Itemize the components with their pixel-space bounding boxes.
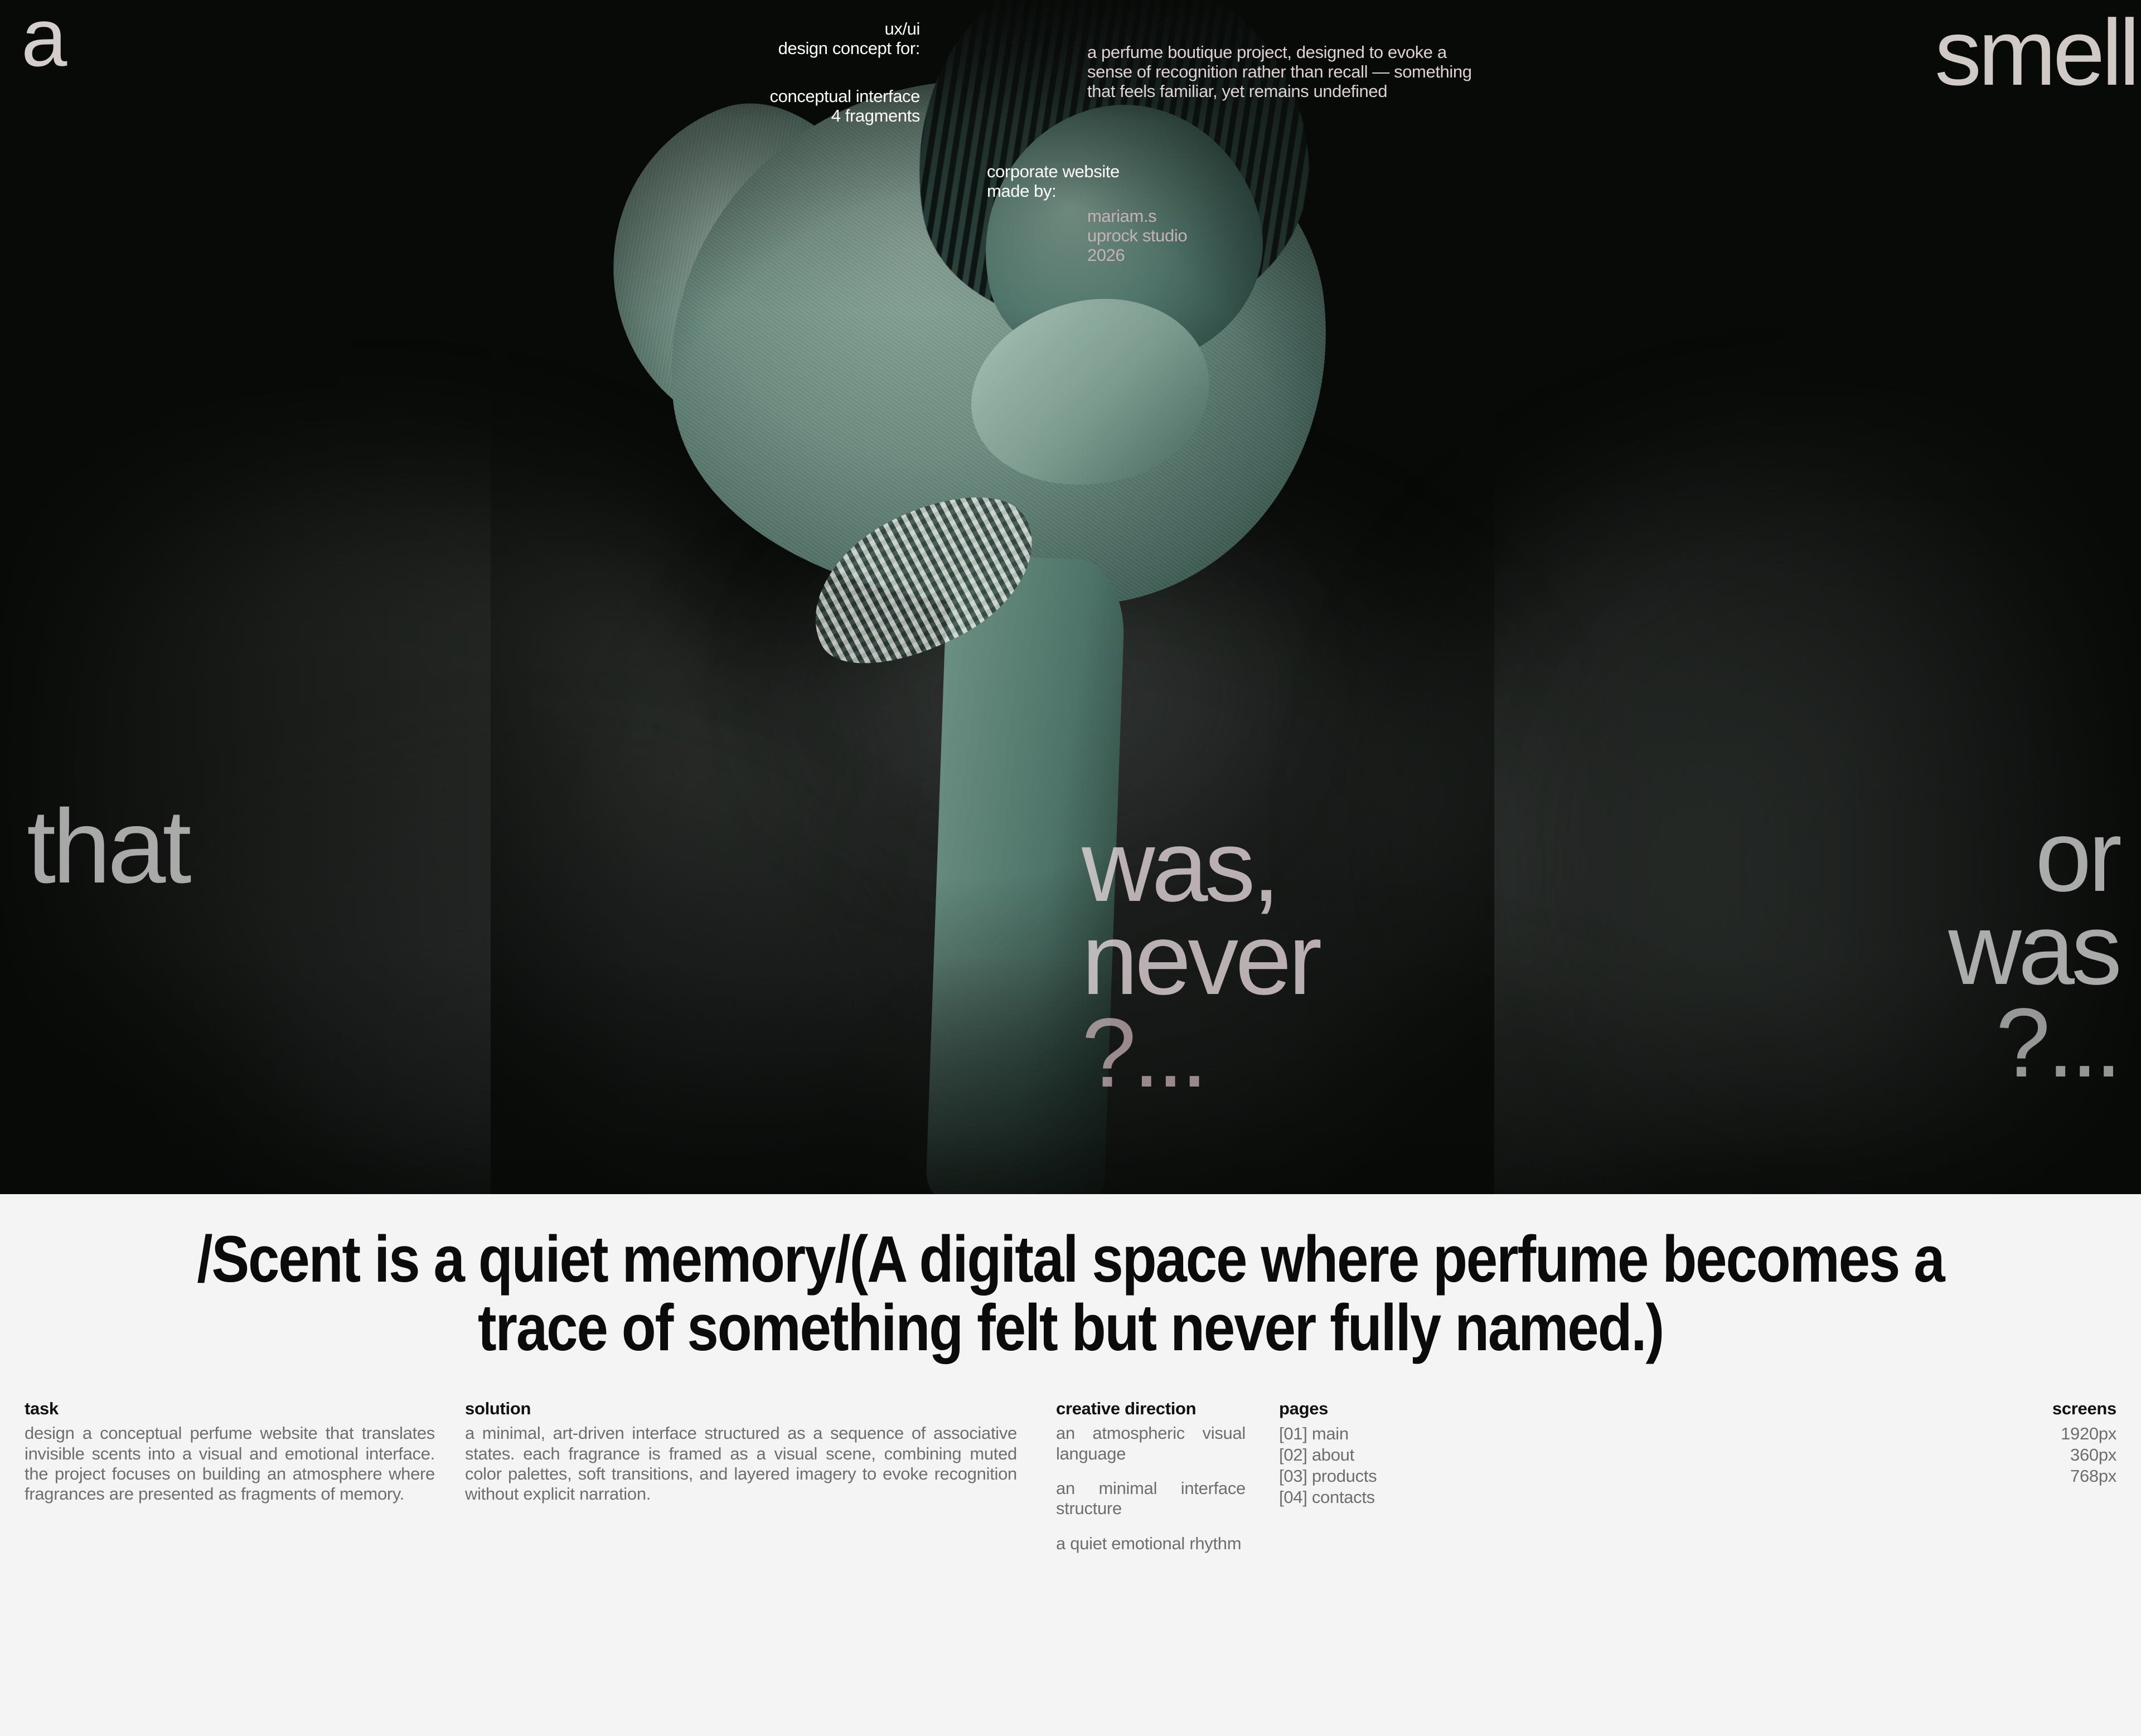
info-band: /Scent is a quiet memory/(A digital spac… — [0, 1194, 2141, 1736]
column-solution-title: solution — [465, 1399, 1017, 1419]
meta-corporate-website: corporate website — [987, 162, 1188, 181]
screens-list-item: 768px — [1782, 1466, 2116, 1487]
column-screens: screens 1920px 360px 768px — [1782, 1399, 2116, 1486]
overlay-word-never: never — [1082, 913, 1319, 1006]
meta-credit-block: mariam.s uprock studio 2026 — [1087, 206, 1344, 265]
column-creative-direction-title: creative direction — [1056, 1399, 1246, 1419]
meta-year: 2026 — [1087, 245, 1344, 265]
creative-direction-item: a quiet emotional rhythm — [1056, 1534, 1246, 1554]
overlay-word-was-right: was — [1948, 903, 2119, 996]
column-task-body: design a conceptual perfume website that… — [25, 1423, 435, 1504]
brand-mark-smell: smell — [1935, 6, 2137, 99]
column-solution-body: a minimal, art-driven interface structur… — [465, 1423, 1017, 1504]
meta-discipline-block: ux/ui design concept for: — [714, 19, 920, 58]
meta-concept-label: design concept for: — [714, 38, 920, 58]
meta-concept-description: a perfume boutique project, designed to … — [1087, 42, 1489, 101]
meta-interface-type: conceptual interface — [714, 86, 920, 106]
screens-list-item: 360px — [1782, 1444, 2116, 1466]
hero-section: a smell ux/ui design concept for: concep… — [0, 0, 2141, 1194]
overlay-phrase-or-was: or was ?... — [1948, 809, 2119, 1090]
meta-made-by-block: corporate website made by: — [987, 162, 1188, 201]
info-columns: task design a conceptual perfume website… — [25, 1399, 2116, 1553]
column-task-title: task — [25, 1399, 435, 1419]
meta-made-by: made by: — [987, 181, 1188, 201]
column-solution: solution a minimal, art-driven interface… — [465, 1399, 1056, 1504]
meta-studio: uprock studio — [1087, 226, 1344, 245]
column-pages-title: pages — [1279, 1399, 1725, 1419]
headline: /Scent is a quiet memory/(A digital spac… — [171, 1194, 1970, 1362]
meta-fragments: 4 fragments — [714, 106, 920, 125]
overlay-question-mark-center: ?... — [1082, 1006, 1319, 1100]
overlay-question-mark-right: ?... — [1948, 996, 2119, 1090]
overlay-word-was: was, — [1082, 819, 1319, 913]
pages-list-item[interactable]: [03] products — [1279, 1466, 1725, 1487]
brand-mark-a: a — [21, 0, 65, 79]
column-screens-title: screens — [1782, 1399, 2116, 1419]
column-pages: pages [01] main [02] about [03] products… — [1279, 1399, 1725, 1507]
overlay-phrase-was-never: was, never ?... — [1082, 819, 1319, 1100]
overlay-word-or: or — [1948, 809, 2119, 903]
column-task: task design a conceptual perfume website… — [25, 1399, 465, 1504]
pages-list-item[interactable]: [02] about — [1279, 1444, 1725, 1466]
meta-interface-block: conceptual interface 4 fragments — [714, 86, 920, 125]
meta-author: mariam.s — [1087, 206, 1344, 226]
screens-list-item: 1920px — [1782, 1423, 2116, 1444]
column-creative-direction: creative direction an atmospheric visual… — [1056, 1399, 1279, 1553]
creative-direction-item: an atmospheric visual language — [1056, 1423, 1246, 1464]
overlay-word-that: that — [27, 798, 188, 895]
pages-list-item[interactable]: [01] main — [1279, 1423, 1725, 1444]
meta-discipline: ux/ui — [714, 19, 920, 38]
creative-direction-item: an minimal interface structure — [1056, 1478, 1246, 1519]
pages-list-item[interactable]: [04] contacts — [1279, 1487, 1725, 1508]
